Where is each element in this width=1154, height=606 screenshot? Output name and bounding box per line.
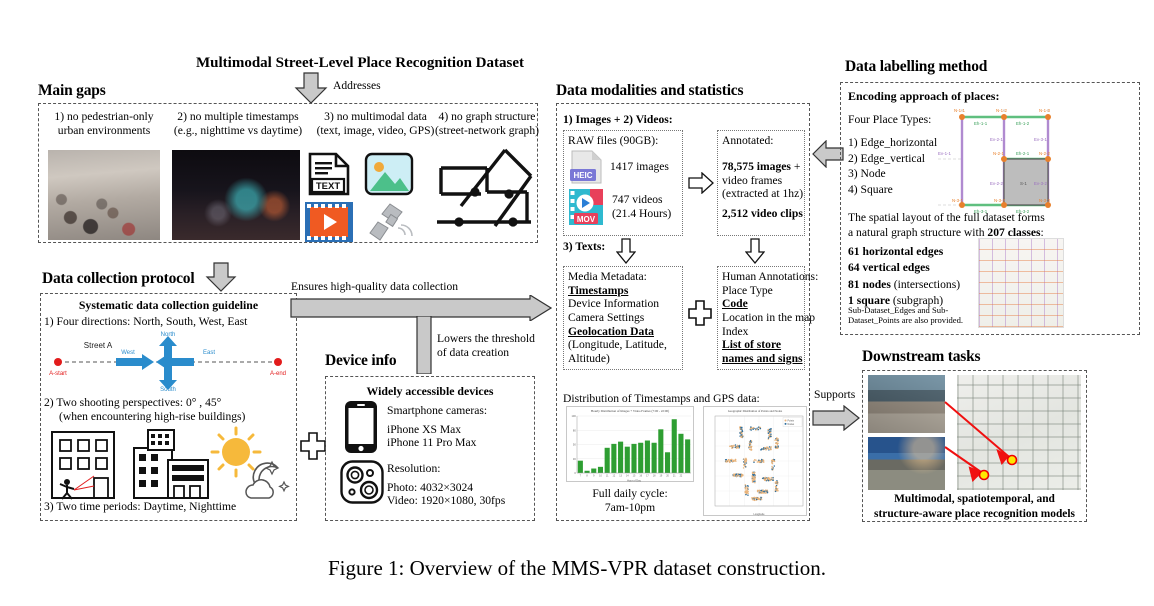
node-label-n-2-2: N-2-2 (1039, 151, 1051, 156)
protocol-subheading: Systematic data collection guideline (46, 298, 291, 312)
annotation-item-index: Index (722, 325, 818, 339)
labelling-heading: Data labelling method (845, 58, 987, 76)
figure-main-title: Multimodal Street-Level Place Recognitio… (60, 55, 660, 72)
gap-4-line1: 4) no graph structure (432, 110, 542, 124)
annotated-frames-line: video frames (722, 174, 803, 188)
stat-vertical-edges: 64 vertical edges (848, 261, 930, 274)
gap-4-line2: (street-network graph) (432, 124, 542, 138)
plus-connector-icon-1 (300, 432, 326, 460)
modalities-section2-title: 3) Texts: (563, 240, 605, 254)
annotated-extract-rate: (extracted at 1hz) (722, 187, 803, 201)
edge-label-eh-1-2: Eh-1-2 (1016, 121, 1030, 126)
main-gaps-heading-text: Main gaps (38, 82, 106, 99)
supports-label: Supports (814, 388, 855, 402)
svg-text:HEIC: HEIC (573, 171, 592, 180)
svg-text:10: 10 (599, 474, 602, 477)
addresses-arrow-icon (294, 72, 328, 104)
place-types-title-text: Four Place Types: (848, 113, 931, 126)
encoding-graph-diagram: N-1-1 N-1-2 N-1-3 Eh-1-1 Eh-1-2 Ev-2-1 E… (938, 105, 1058, 220)
protocol-heading-text: Data collection protocol (42, 270, 194, 287)
svg-text:MOV: MOV (577, 215, 596, 224)
raw-images-count-text: 1417 images (610, 160, 669, 173)
metadata-item-device-info: Device Information (568, 297, 667, 311)
protocol-down-arrow-icon (205, 262, 237, 292)
modalities-section2-title-text: 3) Texts: (563, 240, 605, 253)
device-info-heading-text: Device info (325, 352, 396, 369)
ensures-label-text: Ensures high-quality data collection (291, 280, 458, 293)
edge-label-eh-2-1: Eh-2-1 (1016, 151, 1030, 156)
svg-text:Longitude: Longitude (754, 513, 766, 516)
annotated-images-count: 78,575 images (722, 160, 791, 173)
downstream-link-arrows (868, 375, 1083, 493)
svg-text:North: North (161, 332, 176, 338)
device-camera-2: iPhone 11 Pro Max (387, 436, 487, 450)
figure-main-title-text: Multimodal Street-Level Place Recognitio… (196, 55, 524, 71)
raw-videos-hours-text: (21.4 Hours) (612, 207, 671, 221)
stat-horizontal-edges: 61 horizontal edges (848, 245, 943, 258)
svg-text:East: East (203, 350, 215, 356)
labelling-heading-text: Data labelling method (845, 58, 987, 75)
annotation-item-store-list-line1: List of store (722, 338, 818, 352)
node-label-n-1-3: N-1-3 (1039, 108, 1051, 113)
annotated-images-plus: + (791, 160, 800, 173)
supports-label-text: Supports (814, 388, 855, 401)
modalities-section1-title: 1) Images + 2) Videos: (563, 113, 673, 127)
svg-text:8: 8 (586, 474, 588, 477)
media-metadata-list: Media Metadata: Timestamps Device Inform… (568, 270, 667, 366)
gap-3-label: 3) no multimodal data (text, image, vide… (308, 110, 443, 138)
device-camera-1: iPhone XS Max (387, 423, 487, 437)
buildings-daynight-illustration (50, 424, 290, 500)
device-resolution-video: Video: 1920×1080, 30fps (387, 494, 505, 508)
downstream-caption: Multimodal, spatiotemporal, and structur… (864, 492, 1085, 522)
annotation-item-place-type: Place Type (722, 284, 818, 298)
distribution-label-text: Distribution of Timestamps and GPS data: (563, 392, 760, 405)
camera-module-icon (340, 460, 384, 504)
svg-text:Street A: Street A (84, 341, 113, 350)
video-play-icon (304, 201, 354, 243)
metadata-item-camera-settings: Camera Settings (568, 311, 667, 325)
full-dataset-graph-map (978, 238, 1064, 328)
svg-text:16: 16 (639, 474, 642, 477)
node-label-n-3-2: N-3-2 (994, 198, 1006, 203)
lowers-threshold-label: Lowers the threshold of data creation (437, 332, 535, 359)
downstream-heading: Downstream tasks (862, 348, 980, 366)
edge-label-eh-1-1: Eh-1-1 (974, 121, 988, 126)
satellite-icon (368, 200, 414, 244)
protocol-item-2-line1: 2) Two shooting perspectives: 0° , 45° (44, 396, 245, 410)
gap-1-label: 1) no pedestrian-only urban environments (44, 110, 164, 138)
svg-text:A-start: A-start (49, 371, 67, 377)
device-cameras-block: Smartphone cameras: iPhone XS Max iPhone… (387, 404, 487, 450)
raw-to-metadata-arrow-icon (616, 238, 636, 264)
raw-images-count: 1417 images (610, 160, 669, 174)
labelling-footnote-line1: Sub-Dataset_Edges and Sub- (848, 305, 963, 315)
node-label-n-3-1: N-3-1 (952, 198, 964, 203)
supports-arrow-icon (812, 405, 860, 431)
gap-3-line1: 3) no multimodal data (308, 110, 443, 124)
modalities-heading-text: Data modalities and statistics (556, 82, 743, 99)
modalities-heading: Data modalities and statistics (556, 82, 743, 100)
protocol-item-2-line2: (when encountering high-rise buildings) (44, 410, 245, 424)
device-resolution-photo: Photo: 4032×3024 (387, 481, 505, 495)
daily-cycle-line2: 7am-10pm (566, 501, 694, 515)
encoding-title: Encoding approach of places: (848, 89, 999, 103)
svg-text:A-end: A-end (270, 371, 286, 377)
svg-text:20: 20 (666, 474, 669, 477)
edge-label-ev-2-1: Ev-2-1 (990, 137, 1003, 142)
svg-text:50: 50 (573, 443, 576, 447)
raw-videos-count-text: 747 videos (612, 193, 671, 207)
svg-text:7: 7 (580, 474, 582, 477)
svg-text:12: 12 (613, 474, 616, 477)
place-types-list: 1) Edge_horizontal 2) Edge_vertical 3) N… (848, 135, 937, 198)
metadata-item-timestamps: Timestamps (568, 284, 667, 298)
svg-text:South: South (160, 387, 176, 392)
metadata-item-coords-line2: Altitude) (568, 352, 667, 366)
hourly-distribution-bar-chart: Hourly Distribution of Images + Video Fr… (566, 406, 694, 482)
svg-text:22: 22 (680, 474, 683, 477)
graph-structure-icon (435, 148, 535, 240)
edge-label-ev-3-1: Ev-3-1 (1034, 137, 1047, 142)
protocol-subheading-text: Systematic data collection guideline (79, 298, 258, 312)
daily-cycle-line1: Full daily cycle: (566, 487, 694, 501)
raw-files-title-text: RAW files (90GB): (568, 134, 658, 147)
gap-2-night-photo (172, 150, 300, 240)
node-label-n-2-1: N-2-1 (993, 151, 1005, 156)
gap-2-label: 2) no multiple timestamps (e.g., nightti… (165, 110, 311, 138)
labelling-footnote-line2: Dataset_Points are also provided. (848, 315, 963, 325)
media-metadata-title: Media Metadata: (568, 270, 667, 284)
protocol-item-3: 3) Two time periods: Daytime, Nighttime (44, 500, 236, 514)
svg-text:West: West (121, 350, 135, 356)
protocol-item-3-text: 3) Two time periods: Daytime, Nighttime (44, 500, 236, 513)
svg-text:Nodes: Nodes (788, 424, 795, 426)
main-gaps-heading: Main gaps (38, 82, 106, 100)
graph-stats-list: 61 horizontal edges 64 vertical edges 81… (848, 244, 960, 310)
protocol-heading: Data collection protocol (42, 270, 194, 288)
downstream-caption-line1: Multimodal, spatiotemporal, and (864, 492, 1085, 507)
image-icon (364, 150, 414, 198)
plus-connector-icon-2 (688, 300, 712, 326)
addresses-label: Addresses (333, 79, 381, 93)
human-annotations-list: Human Annotations: Place Type Code Locat… (722, 270, 818, 366)
gps-scatter-chart: Geographic Distribution of Points and No… (703, 406, 807, 516)
gap-1-line1: 1) no pedestrian-only (44, 110, 164, 124)
lowers-threshold-line1: Lowers the threshold (437, 332, 535, 346)
svg-text:18: 18 (653, 474, 656, 477)
node-label-n-1-1: N-1-1 (954, 108, 966, 113)
modalities-section1-title-text: 1) Images + 2) Videos: (563, 113, 673, 126)
svg-text:0: 0 (574, 471, 576, 475)
spatial-layout-line1: The spatial layout of the full dataset f… (848, 210, 1045, 225)
spatial-layout-line2a: a natural graph structure with (848, 226, 987, 239)
square-label-s-1: S-1 (1020, 181, 1027, 186)
gap-2-line2: (e.g., nighttime vs daytime) (165, 124, 311, 138)
addresses-label-text: Addresses (333, 79, 381, 92)
svg-text:19: 19 (659, 474, 662, 477)
device-info-heading: Device info (325, 352, 396, 370)
lowers-threshold-stem-icon (416, 316, 432, 374)
metadata-item-coords-line1: (Longitude, Latitude, (568, 338, 667, 352)
svg-text:80: 80 (573, 428, 576, 432)
heic-file-icon: HEIC (570, 150, 602, 184)
svg-text:15: 15 (633, 474, 636, 477)
lowers-threshold-line2: of data creation (437, 346, 535, 360)
annotation-item-store-list-line2: names and signs (722, 352, 818, 366)
svg-text:13: 13 (619, 474, 622, 477)
daily-cycle-label: Full daily cycle: 7am-10pm (566, 487, 694, 515)
raw-files-title: RAW files (90GB): (568, 134, 658, 148)
human-annotations-title: Human Annotations: (722, 270, 818, 284)
gap-1-crowd-photo (48, 150, 160, 240)
svg-text:TEXT: TEXT (316, 181, 340, 192)
node-label-n-1-2: N-1-2 (996, 108, 1008, 113)
stat-nodes: 81 nodes (848, 278, 891, 291)
smartphone-icon (344, 400, 378, 454)
place-type-4: 4) Square (848, 182, 937, 198)
protocol-item-2: 2) Two shooting perspectives: 0° , 45° (… (44, 396, 245, 423)
distribution-label: Distribution of Timestamps and GPS data: (563, 392, 760, 406)
place-types-title: Four Place Types: (848, 113, 931, 127)
figure-caption: Figure 1: Overview of the MMS-VPR datase… (0, 556, 1154, 581)
protocol-item-1: 1) Four directions: North, South, West, … (44, 315, 247, 329)
edge-label-ev-2-2: Ev-2-2 (990, 181, 1003, 186)
device-subheading: Widely accessible devices (330, 384, 530, 398)
svg-text:Points: Points (788, 420, 795, 423)
gap-1-line2: urban environments (44, 124, 164, 138)
svg-text:100: 100 (571, 414, 576, 418)
raw-to-annotated-arrow-icon (688, 172, 714, 194)
downstream-heading-text: Downstream tasks (862, 348, 980, 365)
place-type-3: 3) Node (848, 166, 937, 182)
encoding-title-text: Encoding approach of places: (848, 89, 999, 103)
svg-text:17: 17 (646, 474, 649, 477)
stat-nodes-rest: (intersections) (891, 278, 960, 291)
ensures-label: Ensures high-quality data collection (291, 280, 458, 294)
spatial-layout-text: The spatial layout of the full dataset f… (848, 210, 1045, 241)
edge-label-ev-1-1: Ev-1-1 (938, 151, 951, 156)
text-document-icon: TEXT (306, 152, 352, 196)
device-resolution-block: Resolution: Photo: 4032×3024 Video: 1920… (387, 462, 505, 508)
street-direction-diagram: North South West East A-start A-end Stre… (46, 330, 292, 392)
annotated-stats: 78,575 images + video frames (extracted … (722, 160, 803, 221)
figure-caption-text: Figure 1: Overview of the MMS-VPR datase… (328, 556, 826, 580)
svg-text:11: 11 (606, 474, 609, 477)
gap-4-label: 4) no graph structure (street-network gr… (432, 110, 542, 138)
device-subheading-text: Widely accessible devices (367, 384, 494, 398)
annotated-title: Annotated: (722, 134, 774, 148)
svg-text:9: 9 (593, 474, 595, 477)
svg-text:30: 30 (573, 457, 576, 461)
annotated-title-text: Annotated: (722, 134, 774, 147)
svg-text:21: 21 (673, 474, 676, 477)
gap-2-line1: 2) no multiple timestamps (165, 110, 311, 124)
place-type-2: 2) Edge_vertical (848, 151, 937, 167)
annotated-video-clips: 2,512 video clips (722, 207, 803, 221)
gap-3-line2: (text, image, video, GPS) (308, 124, 443, 138)
node-label-n-3-3: N-3-3 (1039, 198, 1051, 203)
labelling-footnote: Sub-Dataset_Edges and Sub- Dataset_Point… (848, 305, 963, 326)
svg-text:14: 14 (626, 474, 629, 477)
annotated-to-human-arrow-icon (745, 238, 765, 264)
place-type-1: 1) Edge_horizontal (848, 135, 937, 151)
raw-videos-count: 747 videos (21.4 Hours) (612, 193, 671, 220)
svg-text:Hour of Day: Hour of Day (627, 479, 642, 483)
mov-file-icon: MOV (568, 188, 604, 226)
annotation-item-location: Location in the map (722, 311, 818, 325)
device-cameras-label: Smartphone cameras: (387, 404, 487, 418)
device-resolution-label: Resolution: (387, 462, 505, 476)
edge-label-ev-3-2: Ev-3-2 (1034, 181, 1047, 186)
metadata-item-geolocation: Geolocation Data (568, 325, 667, 339)
annotation-item-code: Code (722, 297, 818, 311)
protocol-item-1-text: 1) Four directions: North, South, West, … (44, 315, 247, 328)
downstream-caption-line2: structure-aware place recognition models (864, 507, 1085, 522)
